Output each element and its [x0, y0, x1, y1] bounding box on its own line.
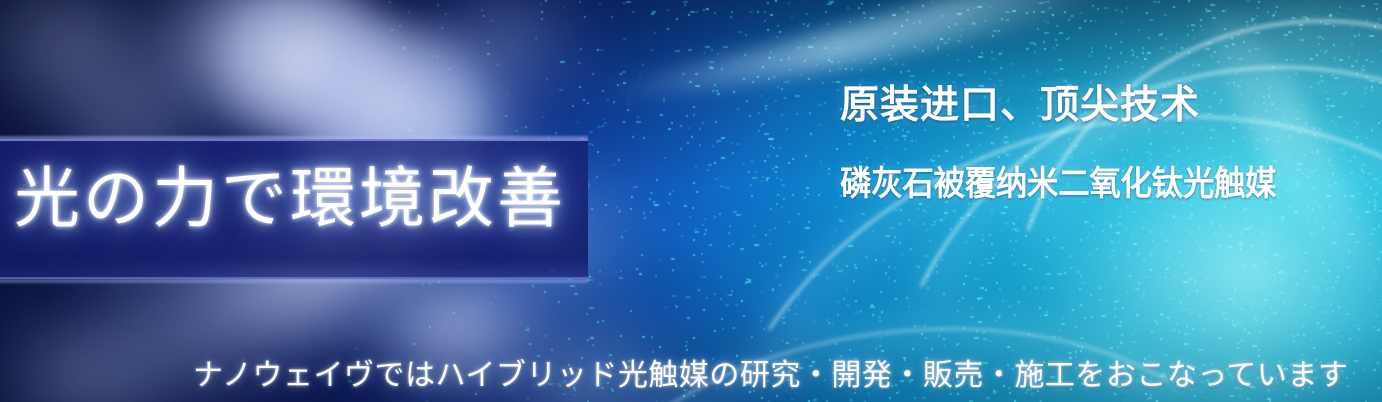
- tagline-text: ナノウェイヴではハイブリッド光触媒の研究・開発・販売・施工をおこなっています: [193, 350, 1348, 394]
- hero-banner: 光の力で環境改善 原装进口、顶尖技术 磷灰石被覆纳米二氧化钛光触媒 ナノウェイヴ…: [0, 0, 1382, 402]
- band-bottom-highlight: [0, 279, 588, 283]
- chinese-headline: 原装进口、顶尖技术: [840, 74, 1200, 130]
- chinese-subheadline: 磷灰石被覆纳米二氧化钛光触媒: [840, 156, 1276, 205]
- main-headline: 光の力で環境改善: [14, 166, 574, 232]
